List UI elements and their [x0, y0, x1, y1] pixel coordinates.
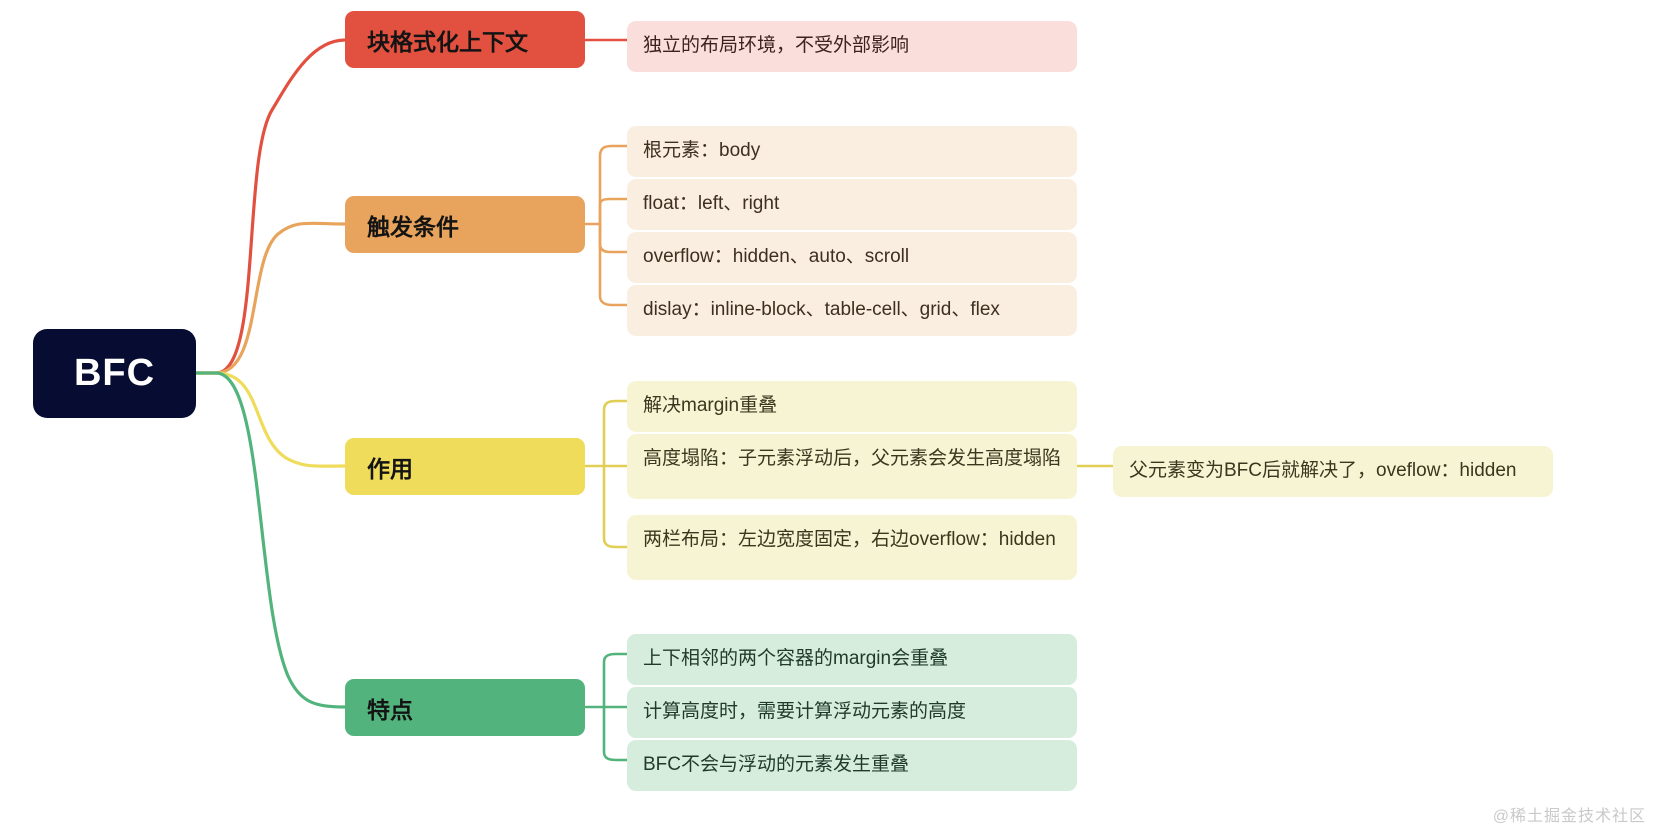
leaf-node-3-2-label: 高度塌陷：子元素浮动后，父元素会发生高度塌陷	[643, 443, 1061, 474]
connector-branch-4-to-leaf-3	[604, 707, 627, 760]
branch-node-3-label: 作用	[367, 450, 413, 484]
root-node[interactable]: BFC	[33, 329, 196, 418]
connector-branch-2-to-leaf-2	[600, 199, 627, 224]
leaf-node-3-1[interactable]: 解决margin重叠	[627, 381, 1077, 432]
mindmap-canvas: BFC 块格式化上下文 独立的布局环境，不受外部影响 触发条件 根元素：body…	[0, 0, 1664, 840]
leaf-node-3-1-label: 解决margin重叠	[643, 390, 777, 421]
leaf-node-1-1[interactable]: 独立的布局环境，不受外部影响	[627, 21, 1077, 72]
leaf-node-3-2[interactable]: 高度塌陷：子元素浮动后，父元素会发生高度塌陷	[627, 434, 1077, 499]
leaf-node-2-2[interactable]: float：left、right	[627, 179, 1077, 230]
leaf-node-4-1-label: 上下相邻的两个容器的margin会重叠	[643, 643, 948, 674]
leaf-node-2-3-label: overflow：hidden、auto、scroll	[643, 241, 909, 272]
root-node-label: BFC	[74, 352, 155, 395]
leaf-node-2-4[interactable]: dislay：inline-block、table-cell、grid、flex	[627, 285, 1077, 336]
watermark: @稀土掘金技术社区	[1493, 802, 1646, 826]
connector-branch-2-to-leaf-4	[600, 224, 627, 305]
branch-node-1-label: 块格式化上下文	[367, 23, 528, 57]
leaf-node-4-3-label: BFC不会与浮动的元素发生重叠	[643, 749, 909, 780]
leaf-node-4-2[interactable]: 计算高度时，需要计算浮动元素的高度	[627, 687, 1077, 738]
leaf-node-2-2-label: float：left、right	[643, 188, 779, 219]
connector-branch-4-to-leaf-1	[604, 654, 627, 707]
grandchild-node-3-2-1-label: 父元素变为BFC后就解决了，oveflow：hidden	[1129, 455, 1516, 486]
grandchild-node-3-2-1[interactable]: 父元素变为BFC后就解决了，oveflow：hidden	[1113, 446, 1553, 497]
branch-node-4[interactable]: 特点	[345, 679, 585, 736]
connector-root-to-branch-2	[196, 223, 345, 373]
branch-node-4-label: 特点	[367, 691, 413, 725]
branch-node-2[interactable]: 触发条件	[345, 196, 585, 253]
leaf-node-2-1-label: 根元素：body	[643, 135, 760, 166]
connector-root-to-branch-4	[196, 373, 345, 707]
leaf-node-2-4-label: dislay：inline-block、table-cell、grid、flex	[643, 294, 1000, 325]
leaf-node-4-2-label: 计算高度时，需要计算浮动元素的高度	[643, 696, 966, 727]
leaf-node-1-1-label: 独立的布局环境，不受外部影响	[643, 30, 909, 61]
leaf-node-3-3[interactable]: 两栏布局：左边宽度固定，右边overflow：hidden	[627, 515, 1077, 580]
connector-branch-3-to-leaf-1	[604, 401, 627, 466]
connector-branch-3-to-leaf-3	[604, 466, 627, 547]
connector-root-to-branch-1	[196, 40, 345, 373]
leaf-node-2-3[interactable]: overflow：hidden、auto、scroll	[627, 232, 1077, 283]
branch-node-1[interactable]: 块格式化上下文	[345, 11, 585, 68]
branch-node-2-label: 触发条件	[367, 208, 459, 242]
leaf-node-2-1[interactable]: 根元素：body	[627, 126, 1077, 177]
leaf-node-4-3[interactable]: BFC不会与浮动的元素发生重叠	[627, 740, 1077, 791]
leaf-node-3-3-label: 两栏布局：左边宽度固定，右边overflow：hidden	[643, 524, 1056, 555]
leaf-node-4-1[interactable]: 上下相邻的两个容器的margin会重叠	[627, 634, 1077, 685]
connector-branch-2-to-leaf-3	[600, 224, 627, 252]
connector-branch-2-to-leaf-1	[600, 146, 627, 224]
connector-root-to-branch-3	[196, 373, 345, 466]
branch-node-3[interactable]: 作用	[345, 438, 585, 495]
